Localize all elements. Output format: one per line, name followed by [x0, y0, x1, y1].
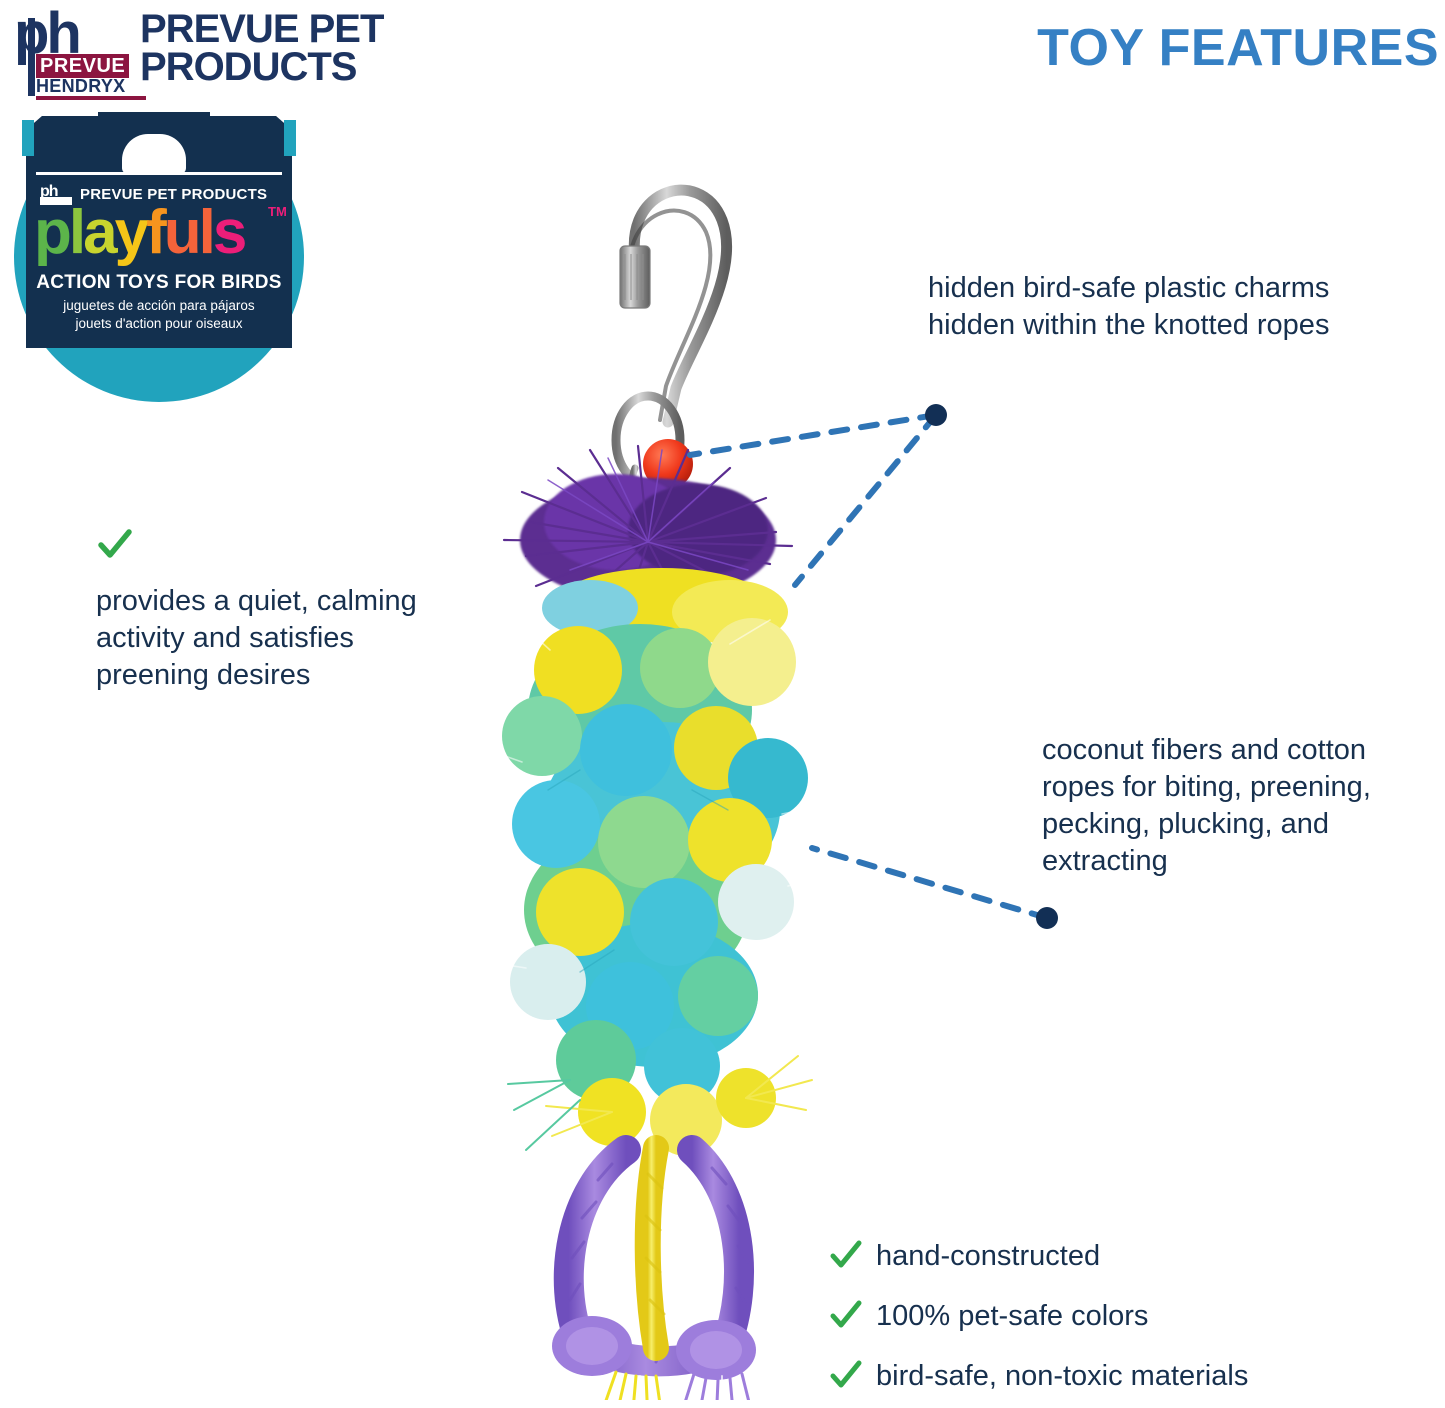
logo-underline: [36, 96, 146, 100]
playfuls-letter: l: [199, 198, 213, 267]
badge-divider-line: [36, 172, 282, 175]
annotation-charms: hidden bird-safe plastic charms hidden w…: [928, 270, 1398, 344]
playfuls-letter: s: [213, 198, 244, 267]
playfuls-letter: l: [69, 198, 83, 267]
badge-arc-text: PREEN & PACIFY arreglo y paz · lissage e…: [14, 348, 304, 410]
playfuls-letter: f: [146, 198, 164, 267]
brand-logo: ph TM PREVUE HENDRYX: [14, 8, 134, 88]
leader-dot-fibers: [1036, 907, 1058, 929]
badge-product-name: playfuls: [34, 202, 294, 264]
badge-notch-right: [284, 120, 296, 156]
badge-tagline-fr: jouets d'action pour oiseaux: [14, 316, 304, 331]
rope-loop: [552, 1148, 756, 1400]
playfuls-letter: p: [34, 198, 69, 267]
list-item: hand-constructed: [830, 1226, 1410, 1286]
playfuls-letter: a: [83, 198, 114, 267]
checklist-label: hand-constructed: [876, 1240, 1100, 1272]
playfuls-letter: u: [164, 198, 199, 267]
list-item: bird-safe, non-toxic materials: [830, 1346, 1410, 1406]
feature-checklist: hand-constructed 100% pet-safe colors bi…: [830, 1226, 1410, 1406]
logo-monogram: ph: [14, 8, 79, 60]
check-icon: [830, 1300, 862, 1332]
annotation-quiet: provides a quiet, calming activity and s…: [96, 583, 456, 694]
svg-text:PREEN & PACIFY: PREEN & PACIFY: [70, 403, 248, 410]
checklist-label: 100% pet-safe colors: [876, 1300, 1148, 1332]
list-item: 100% pet-safe colors: [830, 1286, 1410, 1346]
badge-product-tm: TM: [268, 204, 287, 219]
logo-prevue: PREVUE: [36, 54, 129, 78]
playfuls-letter: y: [115, 198, 146, 267]
checklist-label: bird-safe, non-toxic materials: [876, 1360, 1248, 1392]
badge-notch-left: [22, 120, 34, 156]
page-title: TOY FEATURES: [1037, 18, 1439, 78]
badge-tagline-es: juguetes de acción para pájaros: [14, 298, 304, 313]
leader-dot-charms: [925, 404, 947, 426]
badge-hang-hole: [122, 134, 186, 174]
brand-wordmark: PREVUE PET PRODUCTS: [140, 10, 560, 86]
product-photo: [430, 150, 910, 1400]
check-icon: [98, 528, 132, 562]
badge-tagline: ACTION TOYS FOR BIRDS: [14, 272, 304, 294]
playfuls-badge: ph PREVUE PET PRODUCTS playfuls TM ACTIO…: [14, 112, 304, 412]
check-icon: [830, 1360, 862, 1392]
logo-hendryx: HENDRYX: [36, 77, 125, 96]
rope-body: [484, 568, 830, 1156]
check-icon: [830, 1240, 862, 1272]
annotation-fibers: coconut fibers and cotton ropes for biti…: [1042, 732, 1442, 880]
